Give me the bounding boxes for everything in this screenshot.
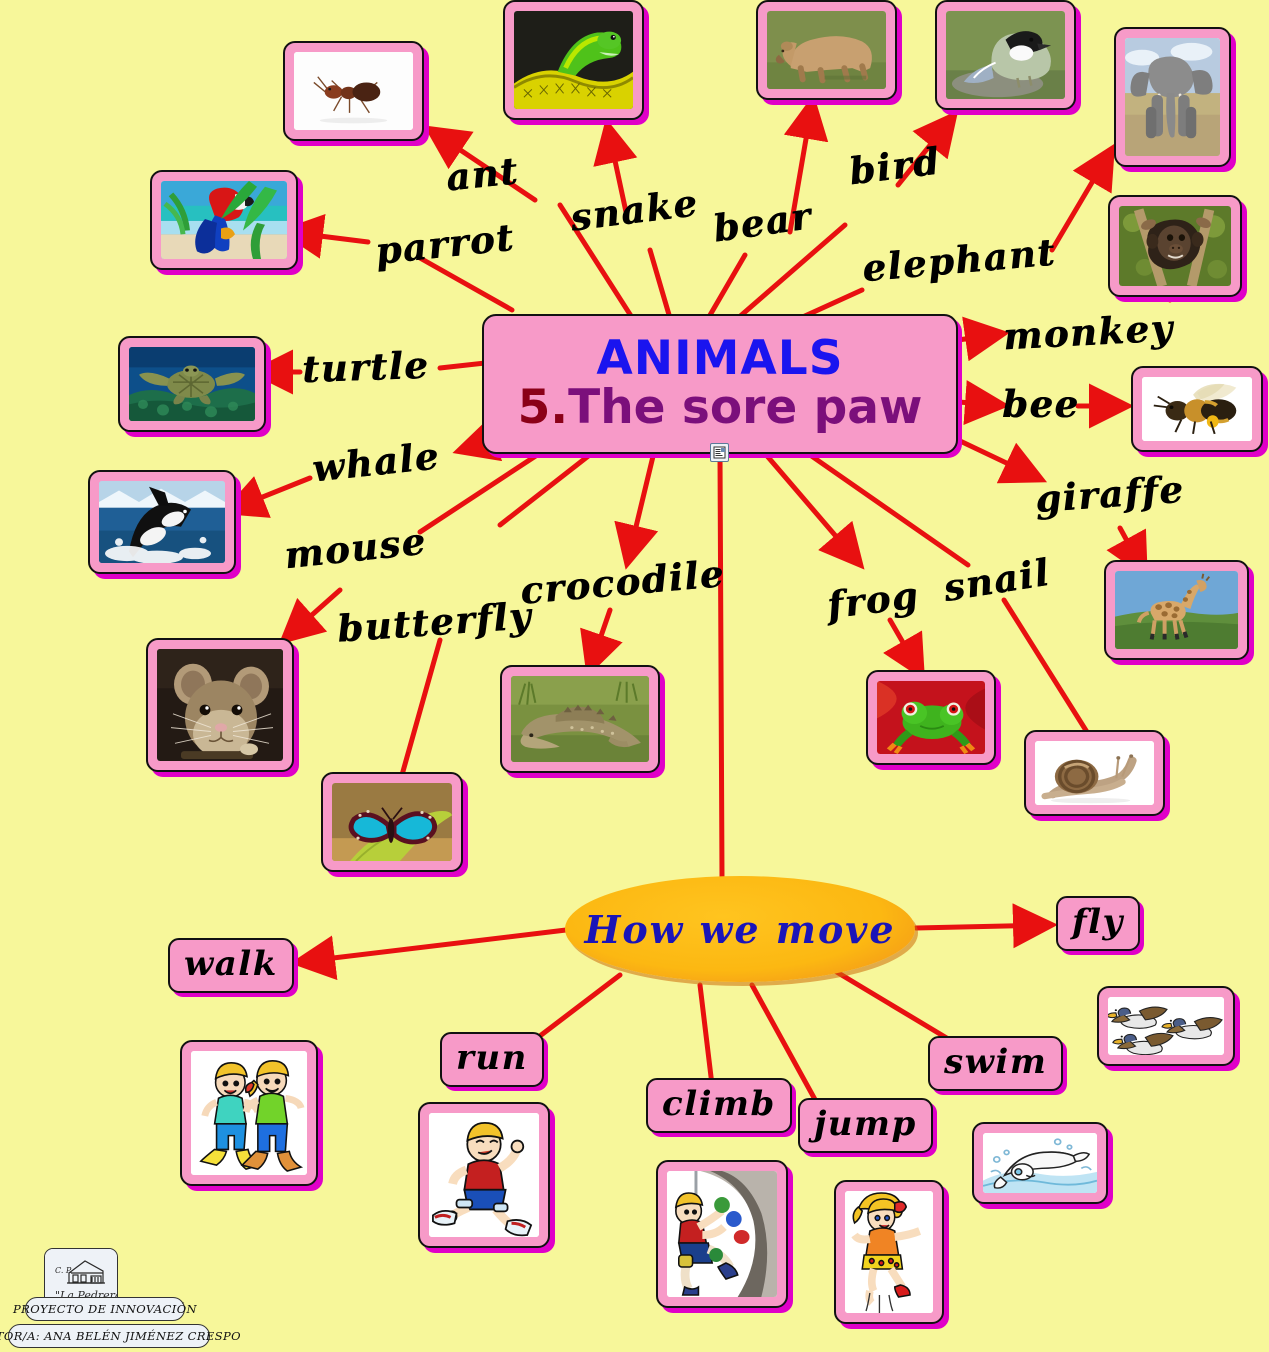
chip-jump-label: jump [814, 1104, 917, 1144]
label-snail[interactable]: snail [940, 550, 1053, 610]
label-bee[interactable]: bee [1002, 382, 1079, 426]
logo-line1-text: C. P. [55, 1266, 72, 1275]
central-title: ANIMALS [596, 335, 843, 383]
climbing-boy-clipart [667, 1171, 777, 1297]
image-elephant[interactable] [1114, 27, 1231, 167]
chip-fly[interactable]: fly [1056, 896, 1140, 951]
monkey-photo [1119, 206, 1231, 286]
how-we-move-label: How we move [584, 907, 895, 952]
image-butterfly[interactable] [321, 772, 463, 872]
label-parrot[interactable]: parrot [373, 215, 516, 273]
butterfly-photo [332, 783, 452, 861]
chip-jump[interactable]: jump [798, 1098, 933, 1153]
image-walk[interactable] [180, 1040, 318, 1186]
image-giraffe[interactable] [1104, 560, 1249, 660]
label-snake[interactable]: snake [568, 180, 701, 239]
label-frog[interactable]: frog [825, 573, 922, 628]
image-bee[interactable] [1131, 366, 1263, 452]
central-subtitle-text: The sore paw [568, 380, 922, 435]
image-bear[interactable] [756, 0, 897, 100]
image-climb[interactable] [656, 1160, 788, 1308]
frog-photo [877, 681, 985, 754]
elephant-photo [1125, 38, 1220, 156]
label-monkey[interactable]: monkey [1002, 306, 1174, 359]
turtle-photo [129, 347, 255, 421]
credit-project-text: PROYECTO DE INNOVACIÓN [13, 1302, 197, 1316]
image-monkey[interactable] [1108, 195, 1242, 297]
label-ant[interactable]: ant [444, 148, 521, 199]
label-bear[interactable]: bear [710, 193, 814, 250]
ant-photo [294, 52, 413, 130]
chip-climb[interactable]: climb [646, 1078, 792, 1133]
label-whale[interactable]: whale [310, 433, 442, 490]
image-mouse[interactable] [146, 638, 294, 772]
jumping-girl-clipart [845, 1191, 933, 1313]
image-jump[interactable] [834, 1180, 944, 1324]
image-swim[interactable] [972, 1122, 1108, 1204]
bear-photo [767, 11, 886, 89]
label-bird[interactable]: bird [847, 139, 943, 194]
image-fly[interactable] [1097, 986, 1235, 1066]
how-we-move-node[interactable]: How we move [565, 876, 915, 982]
mouse-photo [157, 649, 283, 761]
snail-photo [1035, 741, 1154, 805]
chip-swim-label: swim [944, 1042, 1047, 1082]
label-giraffe[interactable]: giraffe [1034, 467, 1186, 521]
running-boy-clipart [429, 1113, 539, 1237]
chip-swim[interactable]: swim [928, 1036, 1063, 1091]
image-snake[interactable] [503, 0, 644, 120]
label-butterfly[interactable]: butterfly [336, 593, 534, 650]
chip-run[interactable]: run [440, 1032, 544, 1087]
label-turtle[interactable]: turtle [301, 343, 430, 391]
node-resize-handle-icon[interactable] [710, 443, 729, 462]
whale-photo [99, 481, 225, 563]
chip-fly-label: fly [1072, 902, 1124, 942]
label-elephant[interactable]: elephant [860, 230, 1057, 291]
chip-climb-label: climb [662, 1084, 776, 1124]
credit-author: AUTOR/A: ANA BELÉN JIMÉNEZ CRESPO [8, 1324, 210, 1348]
chip-walk[interactable]: walk [168, 938, 294, 993]
parrot-photo [161, 181, 287, 259]
bird-photo [946, 11, 1065, 99]
swimming-child-clipart [983, 1133, 1097, 1193]
flying-ducks-clipart [1108, 997, 1224, 1055]
image-frog[interactable] [866, 670, 996, 765]
image-run[interactable] [418, 1102, 550, 1248]
credit-project: PROYECTO DE INNOVACIÓN [25, 1297, 185, 1321]
mind-map-canvas: ANIMALS 5.The sore paw ant snake bear bi… [0, 0, 1269, 1352]
bee-photo [1142, 377, 1252, 441]
label-mouse[interactable]: mouse [282, 519, 428, 578]
central-subtitle-number: 5. [518, 380, 569, 435]
chip-run-label: run [456, 1038, 528, 1078]
credit-author-text: AUTOR/A: ANA BELÉN JIMÉNEZ CRESPO [0, 1329, 241, 1343]
snake-photo [514, 11, 633, 109]
image-turtle[interactable] [118, 336, 266, 432]
walking-children-clipart [191, 1051, 307, 1175]
crocodile-photo [511, 676, 649, 762]
central-subtitle: 5.The sore paw [518, 383, 923, 432]
image-snail[interactable] [1024, 730, 1165, 816]
image-parrot[interactable] [150, 170, 298, 270]
image-whale[interactable] [88, 470, 236, 574]
image-ant[interactable] [283, 41, 424, 141]
label-crocodile[interactable]: crocodile [518, 551, 726, 613]
image-crocodile[interactable] [500, 665, 660, 773]
giraffe-photo [1115, 571, 1238, 649]
chip-walk-label: walk [184, 944, 278, 984]
central-topic-node[interactable]: ANIMALS 5.The sore paw [482, 314, 958, 454]
image-bird[interactable] [935, 0, 1076, 110]
